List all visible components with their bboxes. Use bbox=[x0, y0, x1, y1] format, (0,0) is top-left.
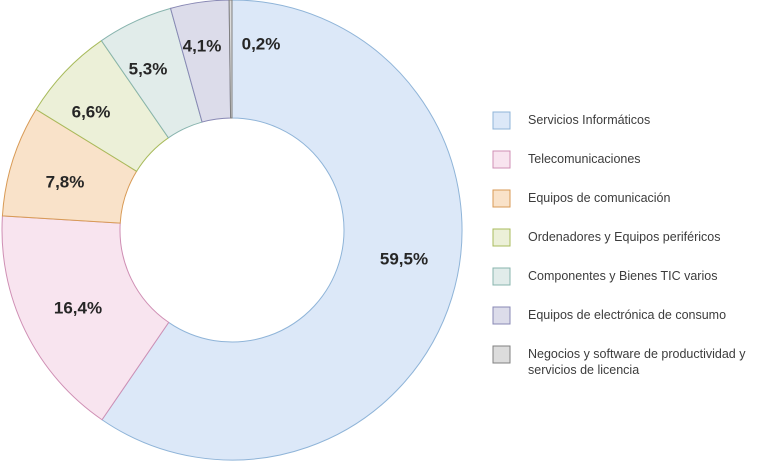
legend-swatch[interactable] bbox=[493, 112, 510, 129]
legend-swatch[interactable] bbox=[493, 229, 510, 246]
legend-swatch[interactable] bbox=[493, 151, 510, 168]
slice-value-label: 6,6% bbox=[72, 102, 111, 121]
legend-swatch[interactable] bbox=[493, 268, 510, 285]
legend-item-label[interactable]: Ordenadores y Equipos periféricos bbox=[528, 230, 720, 244]
slice-value-label: 4,1% bbox=[183, 36, 222, 55]
legend-item-label[interactable]: Equipos de electrónica de consumo bbox=[528, 308, 726, 322]
slice-value-label: 7,8% bbox=[46, 172, 85, 191]
donut-chart-figure: 59,5%16,4%7,8%6,6%5,3%4,1%0,2% Servicios… bbox=[0, 0, 764, 463]
legend-swatch[interactable] bbox=[493, 346, 510, 363]
slice-value-label: 59,5% bbox=[380, 249, 428, 268]
slice-value-label: 16,4% bbox=[54, 298, 102, 317]
slice-value-label: 5,3% bbox=[129, 59, 168, 78]
legend-item-label[interactable]: Equipos de comunicación bbox=[528, 191, 670, 205]
legend-item-label[interactable]: Componentes y Bienes TIC varios bbox=[528, 269, 717, 283]
legend-swatch[interactable] bbox=[493, 307, 510, 324]
legend-swatch[interactable] bbox=[493, 190, 510, 207]
legend-item-label[interactable]: Telecomunicaciones bbox=[528, 152, 641, 166]
legend-item-label[interactable]: Servicios Informáticos bbox=[528, 113, 650, 127]
slice-value-label: 0,2% bbox=[242, 34, 281, 53]
